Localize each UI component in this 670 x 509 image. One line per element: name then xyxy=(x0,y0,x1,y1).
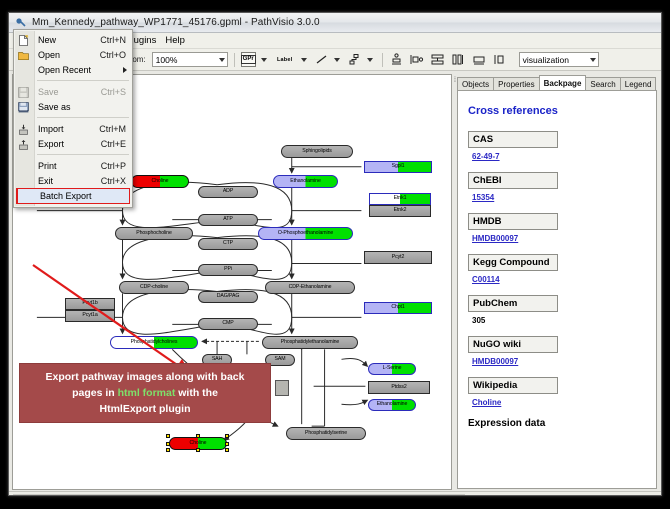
file-menu-accel-new: Ctrl+N xyxy=(100,35,132,45)
cross-references-list: CAS62-49-7ChEBI15354HMDBHMDB00097Kegg Co… xyxy=(468,131,646,407)
line-tool-button[interactable] xyxy=(314,52,329,67)
file-menu-item-export[interactable]: Export Ctrl+E xyxy=(14,136,132,151)
node-label: ADP xyxy=(223,189,233,194)
file-menu-label-import: Import xyxy=(38,124,99,134)
gene-node-pcyt2[interactable]: Pcyt2 xyxy=(364,251,432,264)
node-label: Pcyt2 xyxy=(392,255,404,260)
metabolite-node-atp[interactable]: ATP xyxy=(198,214,258,226)
node-label: L-Serine xyxy=(383,366,402,371)
selection-handle-4[interactable] xyxy=(225,442,229,446)
node-label: ATP xyxy=(223,217,232,222)
xref-value-hmdb[interactable]: HMDB00097 xyxy=(472,234,646,243)
menu-help[interactable]: Help xyxy=(161,34,189,47)
callout-line-3: HtmlExport plugin xyxy=(26,401,264,417)
callout-line2-highlight: html format xyxy=(118,387,176,399)
selection-handle-5[interactable] xyxy=(166,448,170,452)
xref-value-nugo-wiki[interactable]: HMDB00097 xyxy=(472,357,646,366)
file-menu-item-new[interactable]: New Ctrl+N xyxy=(14,32,132,47)
tab-legend[interactable]: Legend xyxy=(620,77,657,90)
gene-node-etnk2[interactable]: Etnk2 xyxy=(369,205,431,217)
node-label: Choline xyxy=(190,441,207,446)
file-menu-label-open-recent: Open Recent xyxy=(38,65,123,75)
selection-handle-0[interactable] xyxy=(166,434,170,438)
file-menu-label-print: Print xyxy=(38,161,101,171)
common-height-button[interactable] xyxy=(492,52,509,67)
pathvisio-window: Mm_Kennedy_pathway_WP1771_45176.gpml - P… xyxy=(8,12,662,496)
xref-source-kegg-compound: Kegg Compound xyxy=(468,254,558,271)
submenu-arrow-icon xyxy=(123,67,127,73)
open-folder-icon xyxy=(17,49,29,61)
selection-handle-6[interactable] xyxy=(196,448,200,452)
stack-center-y-button[interactable] xyxy=(450,52,467,67)
callout-line2-post: with the xyxy=(175,387,218,399)
metabolite-node-phosphatidylethanolamine[interactable]: Phosphatidylethanolamine xyxy=(262,336,358,349)
file-menu-accel-export: Ctrl+E xyxy=(101,139,132,149)
interaction-chevron-down-icon[interactable] xyxy=(367,58,373,62)
align-top-button[interactable] xyxy=(389,52,404,67)
file-menu-separator-3 xyxy=(37,154,129,155)
pathway-anchor-node[interactable] xyxy=(275,380,289,396)
node-label: Ethanolamine xyxy=(290,179,321,184)
metabolite-node-choline[interactable]: Choline xyxy=(131,175,189,188)
metabolite-node-cdp-ethanolamine[interactable]: CDP-Ethanolamine xyxy=(265,281,355,294)
export-icon xyxy=(17,138,29,150)
xref-value-kegg-compound[interactable]: C00114 xyxy=(472,275,646,284)
chevron-down-icon-2 xyxy=(590,58,596,62)
node-label: Phosphatidylethanolamine xyxy=(281,340,339,345)
gene-node-chpt1[interactable]: Chpt1 xyxy=(364,302,432,314)
xref-source-wikipedia: Wikipedia xyxy=(468,377,558,394)
xref-value-pubchem: 305 xyxy=(472,316,646,325)
file-menu-item-open-recent[interactable]: Open Recent xyxy=(14,62,132,77)
xref-value-cas[interactable]: 62-49-7 xyxy=(472,152,646,161)
node-label: SAH xyxy=(212,357,222,362)
datanode-tool-button[interactable]: GPr xyxy=(241,52,256,67)
statusbar: Gene database: ...m_Derby_20120602.bridg… xyxy=(9,491,661,496)
file-menu-item-open[interactable]: Open Ctrl+O xyxy=(14,47,132,62)
callout-annotation: Export pathway images along with back pa… xyxy=(19,363,271,423)
file-menu-label-new: New xyxy=(38,35,100,45)
xref-source-cas: CAS xyxy=(468,131,558,148)
xref-source-chebi: ChEBI xyxy=(468,172,558,189)
node-label: Chpt1 xyxy=(391,305,404,310)
xref-source-hmdb: HMDB xyxy=(468,213,558,230)
selection-handle-1[interactable] xyxy=(196,434,200,438)
gene-node-sgpl1[interactable]: Sgpl1 xyxy=(364,161,432,173)
file-menu-item-exit[interactable]: Exit Ctrl+X xyxy=(14,173,132,188)
common-width-button[interactable] xyxy=(471,52,488,67)
file-menu-label-save: Save xyxy=(38,87,101,97)
xref-value-chebi[interactable]: 15354 xyxy=(472,193,646,202)
file-menu-item-batch-export[interactable]: Batch Export xyxy=(16,188,130,204)
file-menu-accel-print: Ctrl+P xyxy=(101,161,132,171)
window-title: Mm_Kennedy_pathway_WP1771_45176.gpml - P… xyxy=(32,17,320,28)
pathvisio-icon xyxy=(14,16,27,29)
visualization-value: visualization xyxy=(523,55,569,65)
file-menu-label-open: Open xyxy=(38,50,100,60)
file-menu-label-save-as: Save as xyxy=(38,102,126,112)
metabolite-node-phosphatidylserine[interactable]: Phosphatidylserine xyxy=(286,427,366,440)
gene-node-ptdss2[interactable]: Ptdss2 xyxy=(368,381,430,394)
file-menu-accel-exit: Ctrl+X xyxy=(101,176,132,186)
tab-search[interactable]: Search xyxy=(585,77,620,90)
stack-center-x-button[interactable] xyxy=(429,52,446,67)
save-as-icon xyxy=(17,101,29,113)
file-menu-label-exit: Exit xyxy=(38,176,101,186)
callout-line-2: pages in html format with the xyxy=(26,385,264,401)
tab-objects[interactable]: Objects xyxy=(457,77,494,90)
tab-backpage-label: Backpage xyxy=(544,79,582,88)
screenshot-root: Mm_Kennedy_pathway_WP1771_45176.gpml - P… xyxy=(0,0,670,509)
file-menu-item-save: Save Ctrl+S xyxy=(14,84,132,99)
node-label: O-Phosphoethanolamine xyxy=(278,231,333,236)
new-file-icon xyxy=(17,34,29,46)
xref-source-nugo-wiki: NuGO wiki xyxy=(468,336,558,353)
tab-properties[interactable]: Properties xyxy=(493,77,539,90)
node-label: Sgpl1 xyxy=(392,164,405,169)
file-menu-separator-2 xyxy=(37,117,129,118)
toolbar-separator xyxy=(234,53,235,67)
node-label: Ethanolamine xyxy=(377,402,408,407)
selection-handle-7[interactable] xyxy=(225,448,229,452)
sidebar-tabstrip[interactable]: Objects Properties Backpage Search Legen… xyxy=(453,74,661,90)
file-menu-separator-1 xyxy=(37,80,129,81)
tab-legend-label: Legend xyxy=(625,80,652,89)
backpage-panel[interactable]: Cross references CAS62-49-7ChEBI15354HMD… xyxy=(457,90,657,489)
zoom-value: 100% xyxy=(156,55,178,65)
interaction-tool-button[interactable] xyxy=(347,52,362,67)
callout-line2-pre: pages in xyxy=(72,387,118,399)
node-label: Phosphocholine xyxy=(136,231,172,236)
splitter-handle[interactable]: ⁞ xyxy=(454,77,456,84)
chevron-down-icon xyxy=(219,58,225,62)
node-label: Choline xyxy=(152,179,169,184)
selection-handle-3[interactable] xyxy=(166,442,170,446)
node-label: Phosphatidylserine xyxy=(305,431,347,436)
xref-value-wikipedia[interactable]: Choline xyxy=(472,398,646,407)
file-menu-item-save-as[interactable]: Save as xyxy=(14,99,132,114)
node-label: CDP-Ethanolamine xyxy=(289,285,332,290)
selection-handle-2[interactable] xyxy=(225,434,229,438)
file-menu-accel-save: Ctrl+S xyxy=(101,87,132,97)
sidebar: ⁞ Objects Properties Backpage Search Leg… xyxy=(453,71,661,491)
file-menu-accel-open: Ctrl+O xyxy=(100,50,132,60)
callout-line-1: Export pathway images along with back xyxy=(26,369,264,385)
node-label: Sphingolipids xyxy=(302,149,332,154)
tab-backpage[interactable]: Backpage xyxy=(539,75,587,90)
metabolite-node-l-serine[interactable]: L-Serine xyxy=(368,363,416,375)
file-menu-label-batch-export: Batch Export xyxy=(40,191,129,201)
file-menu-dropdown[interactable]: New Ctrl+N Open Ctrl+O Open Recent Save … xyxy=(13,29,133,208)
save-icon xyxy=(17,86,29,98)
node-label: PPi xyxy=(224,267,232,272)
file-menu-label-export: Export xyxy=(38,139,101,149)
node-label: Ptdss2 xyxy=(391,385,406,390)
line-chevron-down-icon[interactable] xyxy=(334,58,340,62)
metabolite-node-ethanolamine[interactable]: Ethanolamine xyxy=(273,175,338,188)
cross-references-title: Cross references xyxy=(468,105,646,117)
node-label: CMP xyxy=(222,321,233,326)
xref-source-pubchem: PubChem xyxy=(468,295,558,312)
import-icon xyxy=(17,123,29,135)
tab-search-label: Search xyxy=(590,80,615,89)
node-label: Etnk2 xyxy=(394,208,407,213)
file-menu-item-import[interactable]: Import Ctrl+M xyxy=(14,121,132,136)
metabolite-node-o-phosphoethanolamine[interactable]: O-Phosphoethanolamine xyxy=(258,227,353,240)
node-label: DAG/PAG xyxy=(217,294,240,299)
file-menu-accel-import: Ctrl+M xyxy=(99,124,132,134)
datanode-chevron-down-icon[interactable] xyxy=(261,58,267,62)
tab-properties-label: Properties xyxy=(498,80,534,89)
metabolite-node-ethanolamine[interactable]: Ethanolamine xyxy=(368,399,416,411)
node-label: Etnk1 xyxy=(394,196,407,201)
statusbar-databases: Gene database: ...m_Derby_20120602.bridg… xyxy=(13,494,465,497)
node-label: SAM xyxy=(275,357,286,362)
metabolite-node-phosphocholine[interactable]: Phosphocholine xyxy=(115,227,193,240)
label-tool-button[interactable]: Label xyxy=(274,52,296,67)
visualization-combobox[interactable]: visualization xyxy=(519,52,599,67)
zoom-combobox[interactable]: 100% xyxy=(152,52,228,67)
label-chevron-down-icon[interactable] xyxy=(301,58,307,62)
metabolite-node-adp[interactable]: ADP xyxy=(198,186,258,198)
metabolite-node-ctp[interactable]: CTP xyxy=(198,238,258,250)
node-label: CTP xyxy=(223,241,233,246)
toolbar-separator-2 xyxy=(382,53,383,67)
metabolite-node-sphingolipids[interactable]: Sphingolipids xyxy=(281,145,353,158)
file-menu-item-print[interactable]: Print Ctrl+P xyxy=(14,158,132,173)
gene-node-etnk1[interactable]: Etnk1 xyxy=(369,193,431,205)
expression-data-title: Expression data xyxy=(468,418,646,429)
align-left-button[interactable] xyxy=(408,52,425,67)
tab-objects-label: Objects xyxy=(462,80,489,89)
